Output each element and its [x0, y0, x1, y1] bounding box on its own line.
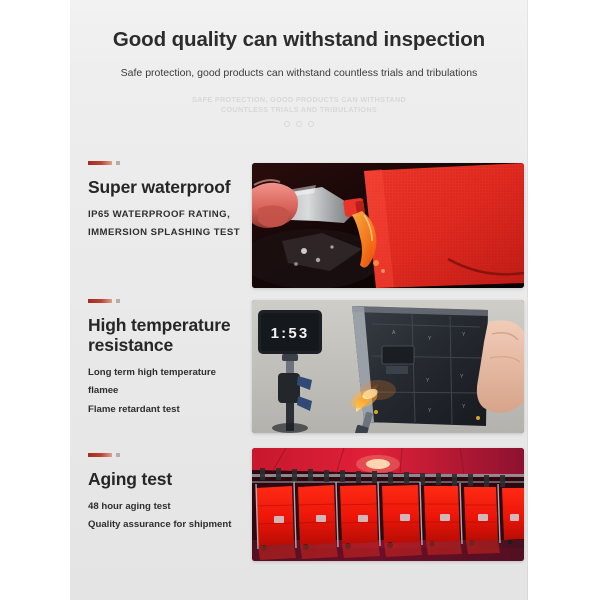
- carousel-dot-2[interactable]: [296, 121, 302, 127]
- accent-square: [116, 299, 120, 303]
- feature-line: Quality assurance for shipment: [88, 516, 288, 534]
- feature-line: Flame retardant test: [88, 401, 288, 419]
- accent-bar: [88, 161, 112, 165]
- accent-bar: [88, 453, 112, 457]
- carousel-dot-3[interactable]: [308, 121, 314, 127]
- accent-square: [116, 161, 120, 165]
- accent-marker-icon: [88, 450, 288, 460]
- page-header: Good quality can withstand inspection Sa…: [70, 0, 528, 127]
- watermark-line-2: COUNTLESS TRIALS AND TRIBULATIONS: [70, 105, 528, 115]
- feature-title-high-temperature: High temperature resistance: [88, 306, 288, 356]
- waterproof-test-photo: [252, 163, 524, 288]
- feature-text-high-temperature: High temperature resistance Long term hi…: [88, 296, 288, 419]
- feature-row-aging-test: Aging test 48 hour aging test Quality as…: [0, 440, 600, 564]
- feature-line: IP65 WATERPROOF RATING,: [88, 206, 288, 224]
- feature-text-aging-test: Aging test 48 hour aging test Quality as…: [88, 450, 288, 535]
- feature-line: IMMERSION SPLASHING TEST: [88, 224, 288, 242]
- feature-title-aging-test: Aging test: [88, 460, 288, 490]
- page-subtitle: Safe protection, good products can withs…: [70, 53, 528, 81]
- feature-row-high-temperature: High temperature resistance Long term hi…: [0, 292, 600, 440]
- accent-square: [116, 453, 120, 457]
- feature-text-waterproof: Super waterproof IP65 WATERPROOF RATING,…: [88, 158, 288, 243]
- carousel-dots[interactable]: [70, 115, 528, 127]
- feature-row-waterproof: Super waterproof IP65 WATERPROOF RATING,…: [0, 150, 600, 290]
- feature-line: flamee: [88, 382, 288, 400]
- promo-page: Good quality can withstand inspection Sa…: [0, 0, 600, 600]
- high-temperature-test-photo: 1:53: [252, 300, 524, 433]
- carousel-dot-1[interactable]: [284, 121, 290, 127]
- accent-marker-icon: [88, 158, 288, 168]
- feature-lines-high-temperature: Long term high temperature flamee Flame …: [88, 356, 288, 419]
- waterproof-test-illustration: [252, 163, 524, 288]
- page-title: Good quality can withstand inspection: [70, 0, 528, 53]
- feature-lines-aging-test: 48 hour aging test Quality assurance for…: [88, 490, 288, 535]
- feature-line: Long term high temperature: [88, 364, 288, 382]
- accent-marker-icon: [88, 296, 288, 306]
- feature-line: 48 hour aging test: [88, 498, 288, 516]
- watermark-line-1: SAFE PROTECTION, GOOD PRODUCTS CAN WITHS…: [70, 95, 528, 105]
- watermark-text: SAFE PROTECTION, GOOD PRODUCTS CAN WITHS…: [70, 80, 528, 114]
- feature-lines-waterproof: IP65 WATERPROOF RATING, IMMERSION SPLASH…: [88, 198, 288, 243]
- aging-test-illustration: [252, 448, 524, 561]
- high-temperature-test-illustration: 1:53: [252, 300, 524, 433]
- feature-title-waterproof: Super waterproof: [88, 168, 288, 198]
- accent-bar: [88, 299, 112, 303]
- aging-test-photo: [252, 448, 524, 561]
